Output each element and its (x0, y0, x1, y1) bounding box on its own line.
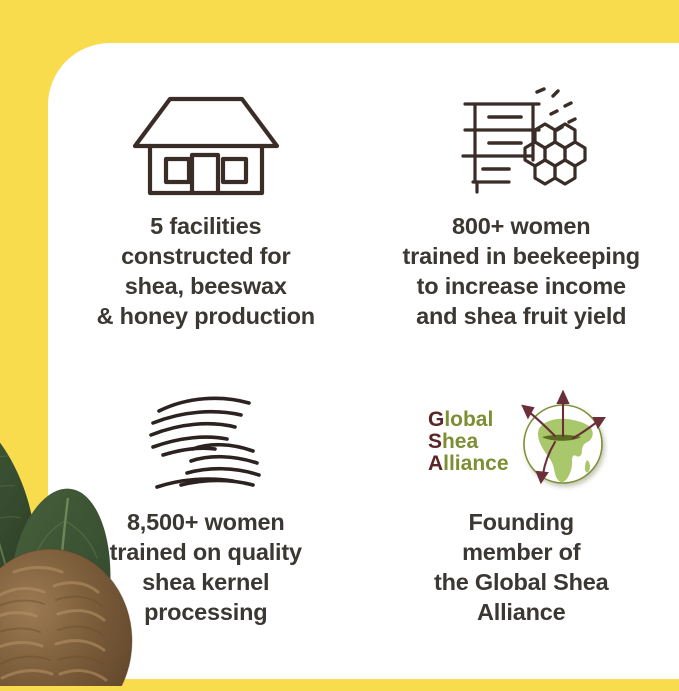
feature-beekeeping: 800+ women trained in beekeeping to incr… (364, 43, 679, 361)
feature-facilities: 5 facilities constructed for shea, beesw… (48, 43, 364, 361)
feature-caption: 5 facilities constructed for shea, beesw… (97, 211, 315, 331)
house-icon (130, 85, 282, 205)
logo-wordmark: Global Shea Alliance (428, 409, 509, 476)
logo-line-global: Global (428, 409, 509, 431)
feature-grid: 5 facilities constructed for shea, beesw… (48, 43, 679, 679)
beehive-honeycomb-icon (451, 85, 591, 205)
global-shea-alliance-logo: Global Shea Alliance (428, 383, 615, 501)
logo-line-alliance: Alliance (428, 453, 509, 475)
feature-caption: 800+ women trained in beekeeping to incr… (403, 211, 640, 331)
feature-gsa-member: Global Shea Alliance (364, 361, 679, 679)
logo-line-shea: Shea (428, 431, 509, 453)
hands-icon (135, 383, 277, 501)
feature-caption: 8,500+ women trained on quality shea ker… (110, 507, 302, 627)
africa-globe-icon (511, 390, 615, 494)
feature-kernel-processing: 8,500+ women trained on quality shea ker… (48, 361, 364, 679)
infographic-stage: 5 facilities constructed for shea, beesw… (0, 0, 679, 679)
feature-caption: Founding member of the Global Shea Allia… (434, 507, 609, 627)
